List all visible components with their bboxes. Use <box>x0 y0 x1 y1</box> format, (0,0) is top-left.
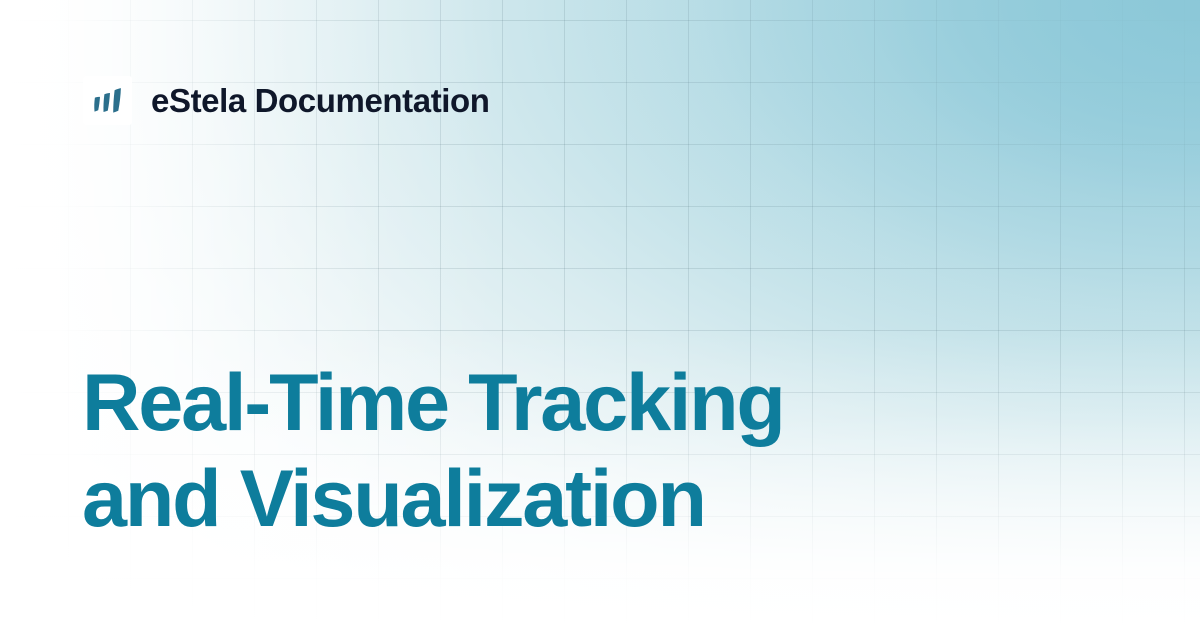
page-title-line-2: and Visualization <box>82 451 1042 547</box>
page-title: Real-Time Tracking and Visualization <box>82 355 1042 547</box>
card-content: eStela Documentation Real-Time Tracking … <box>0 0 1200 630</box>
brand-lockup: eStela Documentation <box>83 76 490 125</box>
page-title-line-1: Real-Time Tracking <box>82 355 1042 451</box>
og-social-card: eStela Documentation Real-Time Tracking … <box>0 0 1200 630</box>
estela-three-blades-icon <box>83 76 132 125</box>
brand-name: eStela Documentation <box>151 84 490 117</box>
